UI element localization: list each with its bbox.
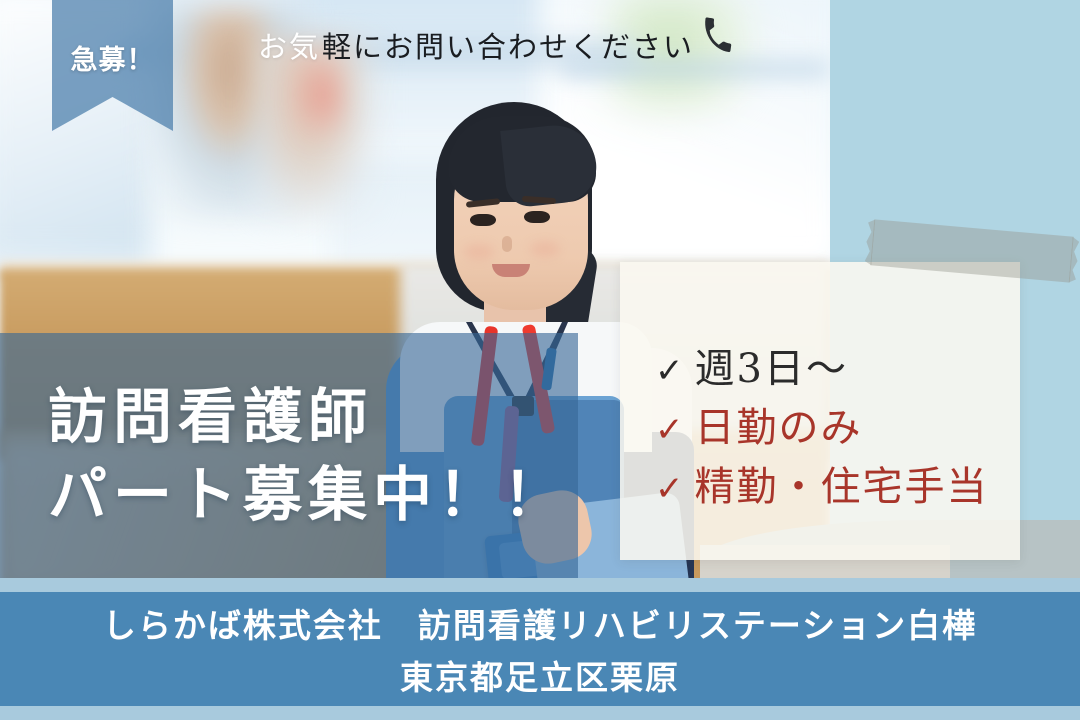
background-accent-red [300, 55, 346, 135]
benefit-label: 週3日〜 [695, 340, 848, 399]
check-icon: ✓ [655, 346, 686, 396]
contact-text-dark: 軽にお問い合わせください [322, 24, 694, 66]
company-address: 東京都足立区栗原 [400, 651, 680, 699]
recruitment-poster: 急募！ お気 軽にお問い合わせください 訪問看護師 パート募集中！！ ✓ 週3日… [0, 0, 1080, 720]
footer-band: しらかば株式会社 訪問看護リハビリステーション白樺 東京都足立区栗原 [0, 592, 1080, 706]
headline-line-2: パート募集中！！ [48, 456, 640, 534]
headline-line-1: 訪問看護師 [48, 378, 640, 456]
benefit-item-2: ✓ 精勤・住宅手当 [655, 458, 1055, 517]
contact-prompt: お気 軽にお問い合わせください [258, 24, 734, 66]
phone-icon [697, 16, 736, 61]
headline-block: 訪問看護師 パート募集中！！ [0, 333, 640, 578]
check-icon: ✓ [655, 464, 686, 514]
benefit-item-1: ✓ 日勤のみ [655, 399, 1055, 458]
eye-left [470, 214, 496, 226]
footer-accent-strip-top [0, 578, 1080, 592]
check-icon: ✓ [655, 405, 686, 455]
benefit-label: 日勤のみ [695, 399, 863, 458]
benefit-label: 精勤・住宅手当 [695, 458, 989, 517]
urgent-hiring-label: 急募！ [71, 38, 155, 77]
eye-right [524, 211, 550, 223]
benefits-list: ✓ 週3日〜 ✓ 日勤のみ ✓ 精勤・住宅手当 [655, 340, 1055, 518]
footer-accent-strip-bottom [0, 706, 1080, 720]
blush-left [464, 244, 494, 260]
benefit-item-0: ✓ 週3日〜 [655, 340, 1055, 399]
company-name: しらかば株式会社 訪問看護リハビリステーション白樺 [103, 599, 977, 647]
blush-right [530, 241, 560, 257]
contact-text-light: お気 [258, 24, 320, 66]
nose [502, 236, 512, 252]
